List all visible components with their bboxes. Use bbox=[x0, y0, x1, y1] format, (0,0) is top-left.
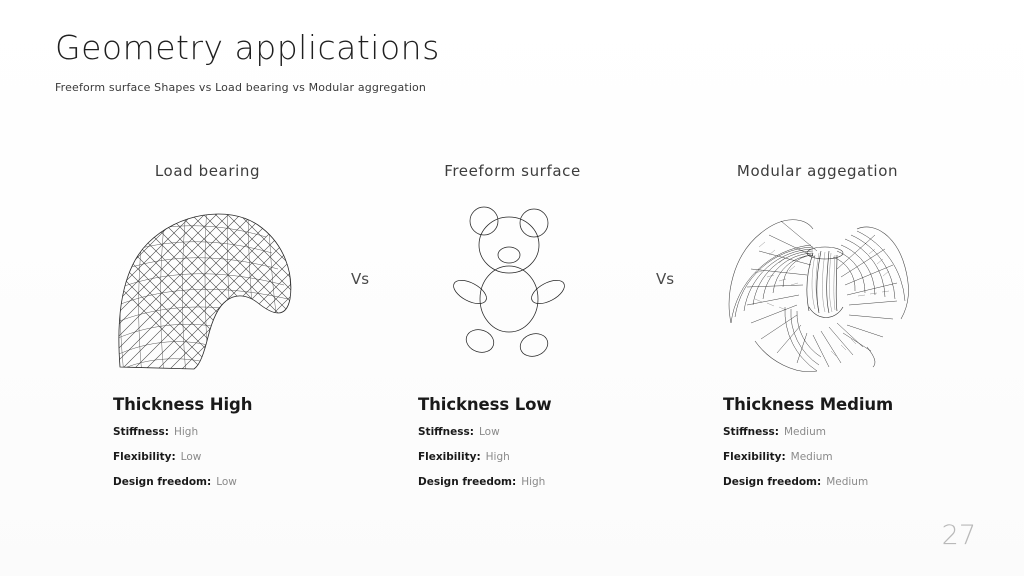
gridshell-wireframe-icon bbox=[108, 195, 308, 375]
spec-label: Stiffness: bbox=[418, 426, 474, 438]
vs-separator-1: Vs bbox=[340, 270, 380, 288]
spec-value: High bbox=[174, 426, 198, 438]
comparison-column-freeform-surface: Freeform surface bbox=[360, 160, 665, 501]
spec-label: Flexibility: bbox=[113, 451, 176, 463]
radial-modular-wireframe-icon bbox=[725, 195, 910, 375]
spec-label: Stiffness: bbox=[113, 426, 169, 438]
column-heading-freeform-surface: Freeform surface bbox=[360, 160, 665, 182]
spec-value: Low bbox=[181, 451, 202, 463]
column-heading-modular-aggregation: Modular aggegation bbox=[665, 160, 970, 182]
spec-value: Medium bbox=[791, 451, 833, 463]
vs-separator-2: Vs bbox=[645, 270, 685, 288]
spec-row: Flexibility:Medium bbox=[723, 451, 970, 463]
spec-row: Design freedom:Low bbox=[113, 476, 360, 488]
gridshell-wireframe-figure bbox=[55, 192, 360, 377]
page-number: 27 bbox=[942, 520, 976, 551]
spec-value: Medium bbox=[826, 476, 868, 488]
spec-label: Flexibility: bbox=[723, 451, 786, 463]
comparison-column-modular-aggregation: Modular aggegation bbox=[665, 160, 970, 501]
slide-canvas: Geometry applications Freeform surface S… bbox=[0, 0, 1024, 576]
spec-value: Low bbox=[216, 476, 237, 488]
spec-row: Stiffness:Low bbox=[418, 426, 665, 438]
teddy-bear-wireframe-icon bbox=[438, 195, 588, 375]
spec-label: Stiffness: bbox=[723, 426, 779, 438]
spec-row: Stiffness:High bbox=[113, 426, 360, 438]
spec-label: Flexibility: bbox=[418, 451, 481, 463]
spec-label: Design freedom: bbox=[113, 476, 211, 488]
column-heading-load-bearing: Load bearing bbox=[55, 160, 360, 182]
spec-list-load-bearing: Stiffness:High Flexibility:Low Design fr… bbox=[55, 426, 360, 488]
spec-row: Flexibility:Low bbox=[113, 451, 360, 463]
spec-list-freeform-surface: Stiffness:Low Flexibility:High Design fr… bbox=[360, 426, 665, 488]
spec-title-modular-aggregation: Thickness Medium bbox=[665, 395, 970, 414]
spec-row: Design freedom:Medium bbox=[723, 476, 970, 488]
teddy-bear-wireframe-figure bbox=[360, 192, 665, 377]
spec-row: Design freedom:High bbox=[418, 476, 665, 488]
spec-row: Flexibility:High bbox=[418, 451, 665, 463]
spec-label: Design freedom: bbox=[418, 476, 516, 488]
page-title: Geometry applications bbox=[55, 28, 440, 67]
spec-title-freeform-surface: Thickness Low bbox=[360, 395, 665, 414]
spec-title-load-bearing: Thickness High bbox=[55, 395, 360, 414]
spec-value: Medium bbox=[784, 426, 826, 438]
spec-row: Stiffness:Medium bbox=[723, 426, 970, 438]
spec-value: Low bbox=[479, 426, 500, 438]
spec-value: High bbox=[486, 451, 510, 463]
comparison-columns: Load bearing bbox=[0, 160, 1024, 500]
spec-list-modular-aggregation: Stiffness:Medium Flexibility:Medium Desi… bbox=[665, 426, 970, 488]
comparison-column-load-bearing: Load bearing bbox=[55, 160, 360, 501]
page-subtitle: Freeform surface Shapes vs Load bearing … bbox=[55, 81, 426, 94]
radial-modular-wireframe-figure bbox=[665, 192, 970, 377]
spec-value: High bbox=[521, 476, 545, 488]
spec-label: Design freedom: bbox=[723, 476, 821, 488]
